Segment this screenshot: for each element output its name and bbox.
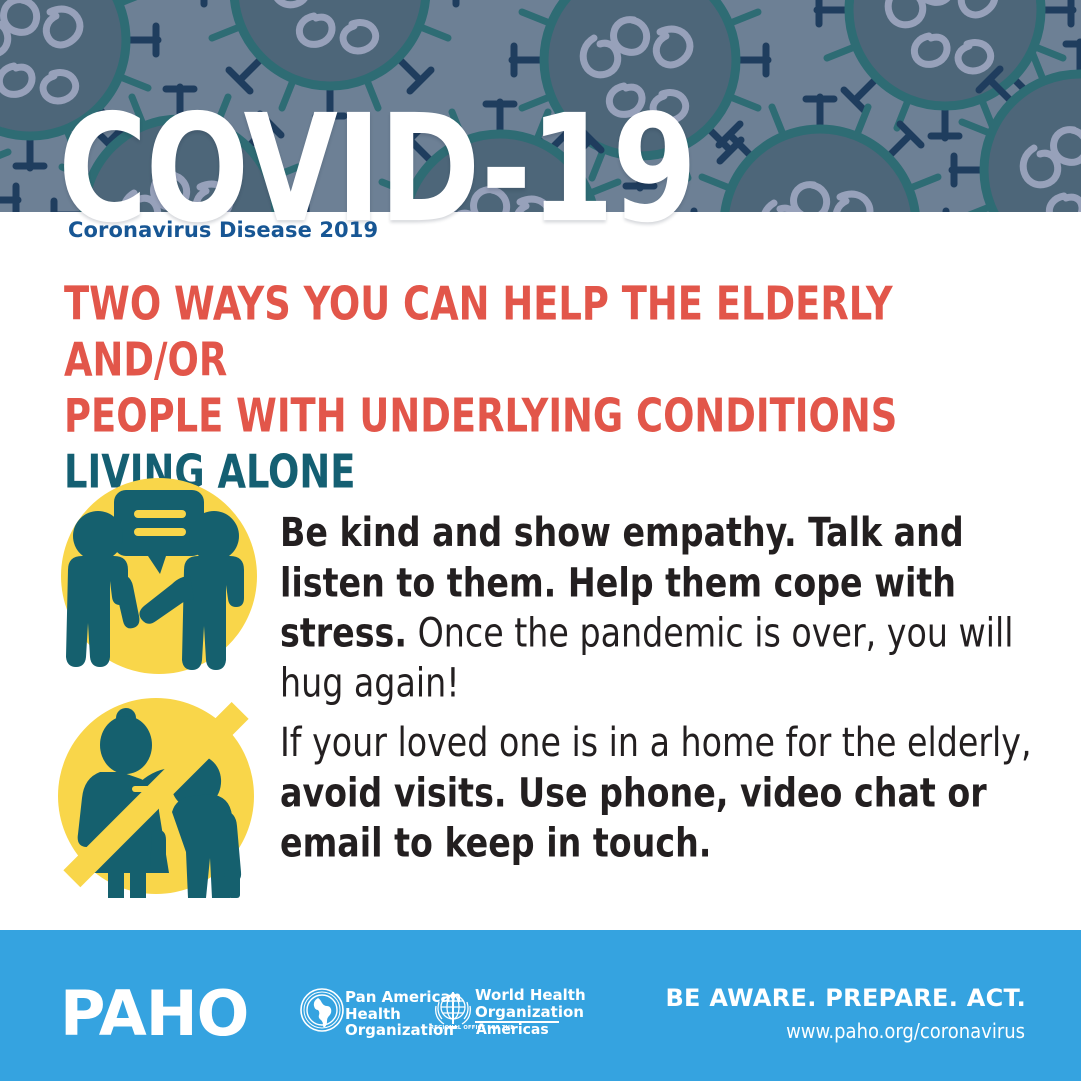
message-text-2: If your loved one is in a home for the e… (280, 718, 1050, 868)
who-line-2: Organization (475, 1004, 559, 1024)
paho-globe-seal-icon (300, 988, 344, 1037)
headline: TWO WAYS YOU CAN HELP THE ELDERLY AND/OR… (64, 276, 1024, 500)
message-2-bold: avoid visits. Use phone, video chat or e… (280, 769, 987, 866)
headline-line-1: TWO WAYS YOU CAN HELP THE ELDERLY AND/OR (64, 276, 1024, 388)
paho-organization-name: Pan American Health Organization (345, 989, 461, 1039)
who-americas-label: Americas (476, 1022, 549, 1038)
paho-line-1: Pan American (345, 988, 461, 1006)
message-2-regular: If your loved one is in a home for the e… (280, 719, 1032, 766)
footer-url[interactable]: www.paho.org/coronavirus (786, 1019, 1025, 1043)
paho-wordmark: PAHO (60, 983, 248, 1045)
message-text-1: Be kind and show empathy. Talk and liste… (280, 508, 1050, 709)
no-visits-elderly-icon (56, 690, 270, 902)
who-line-1: World Health (475, 986, 586, 1004)
who-organization-name: World Health Organization (475, 987, 586, 1023)
headline-line-2: PEOPLE WITH UNDERLYING CONDITIONS (64, 388, 1024, 444)
footer-tagline: BE AWARE. PREPARE. ACT. (665, 984, 1026, 1012)
paho-line-2: Health (345, 1005, 401, 1023)
page-subtitle: Coronavirus Disease 2019 (68, 218, 378, 242)
two-people-talking-icon (56, 478, 262, 674)
